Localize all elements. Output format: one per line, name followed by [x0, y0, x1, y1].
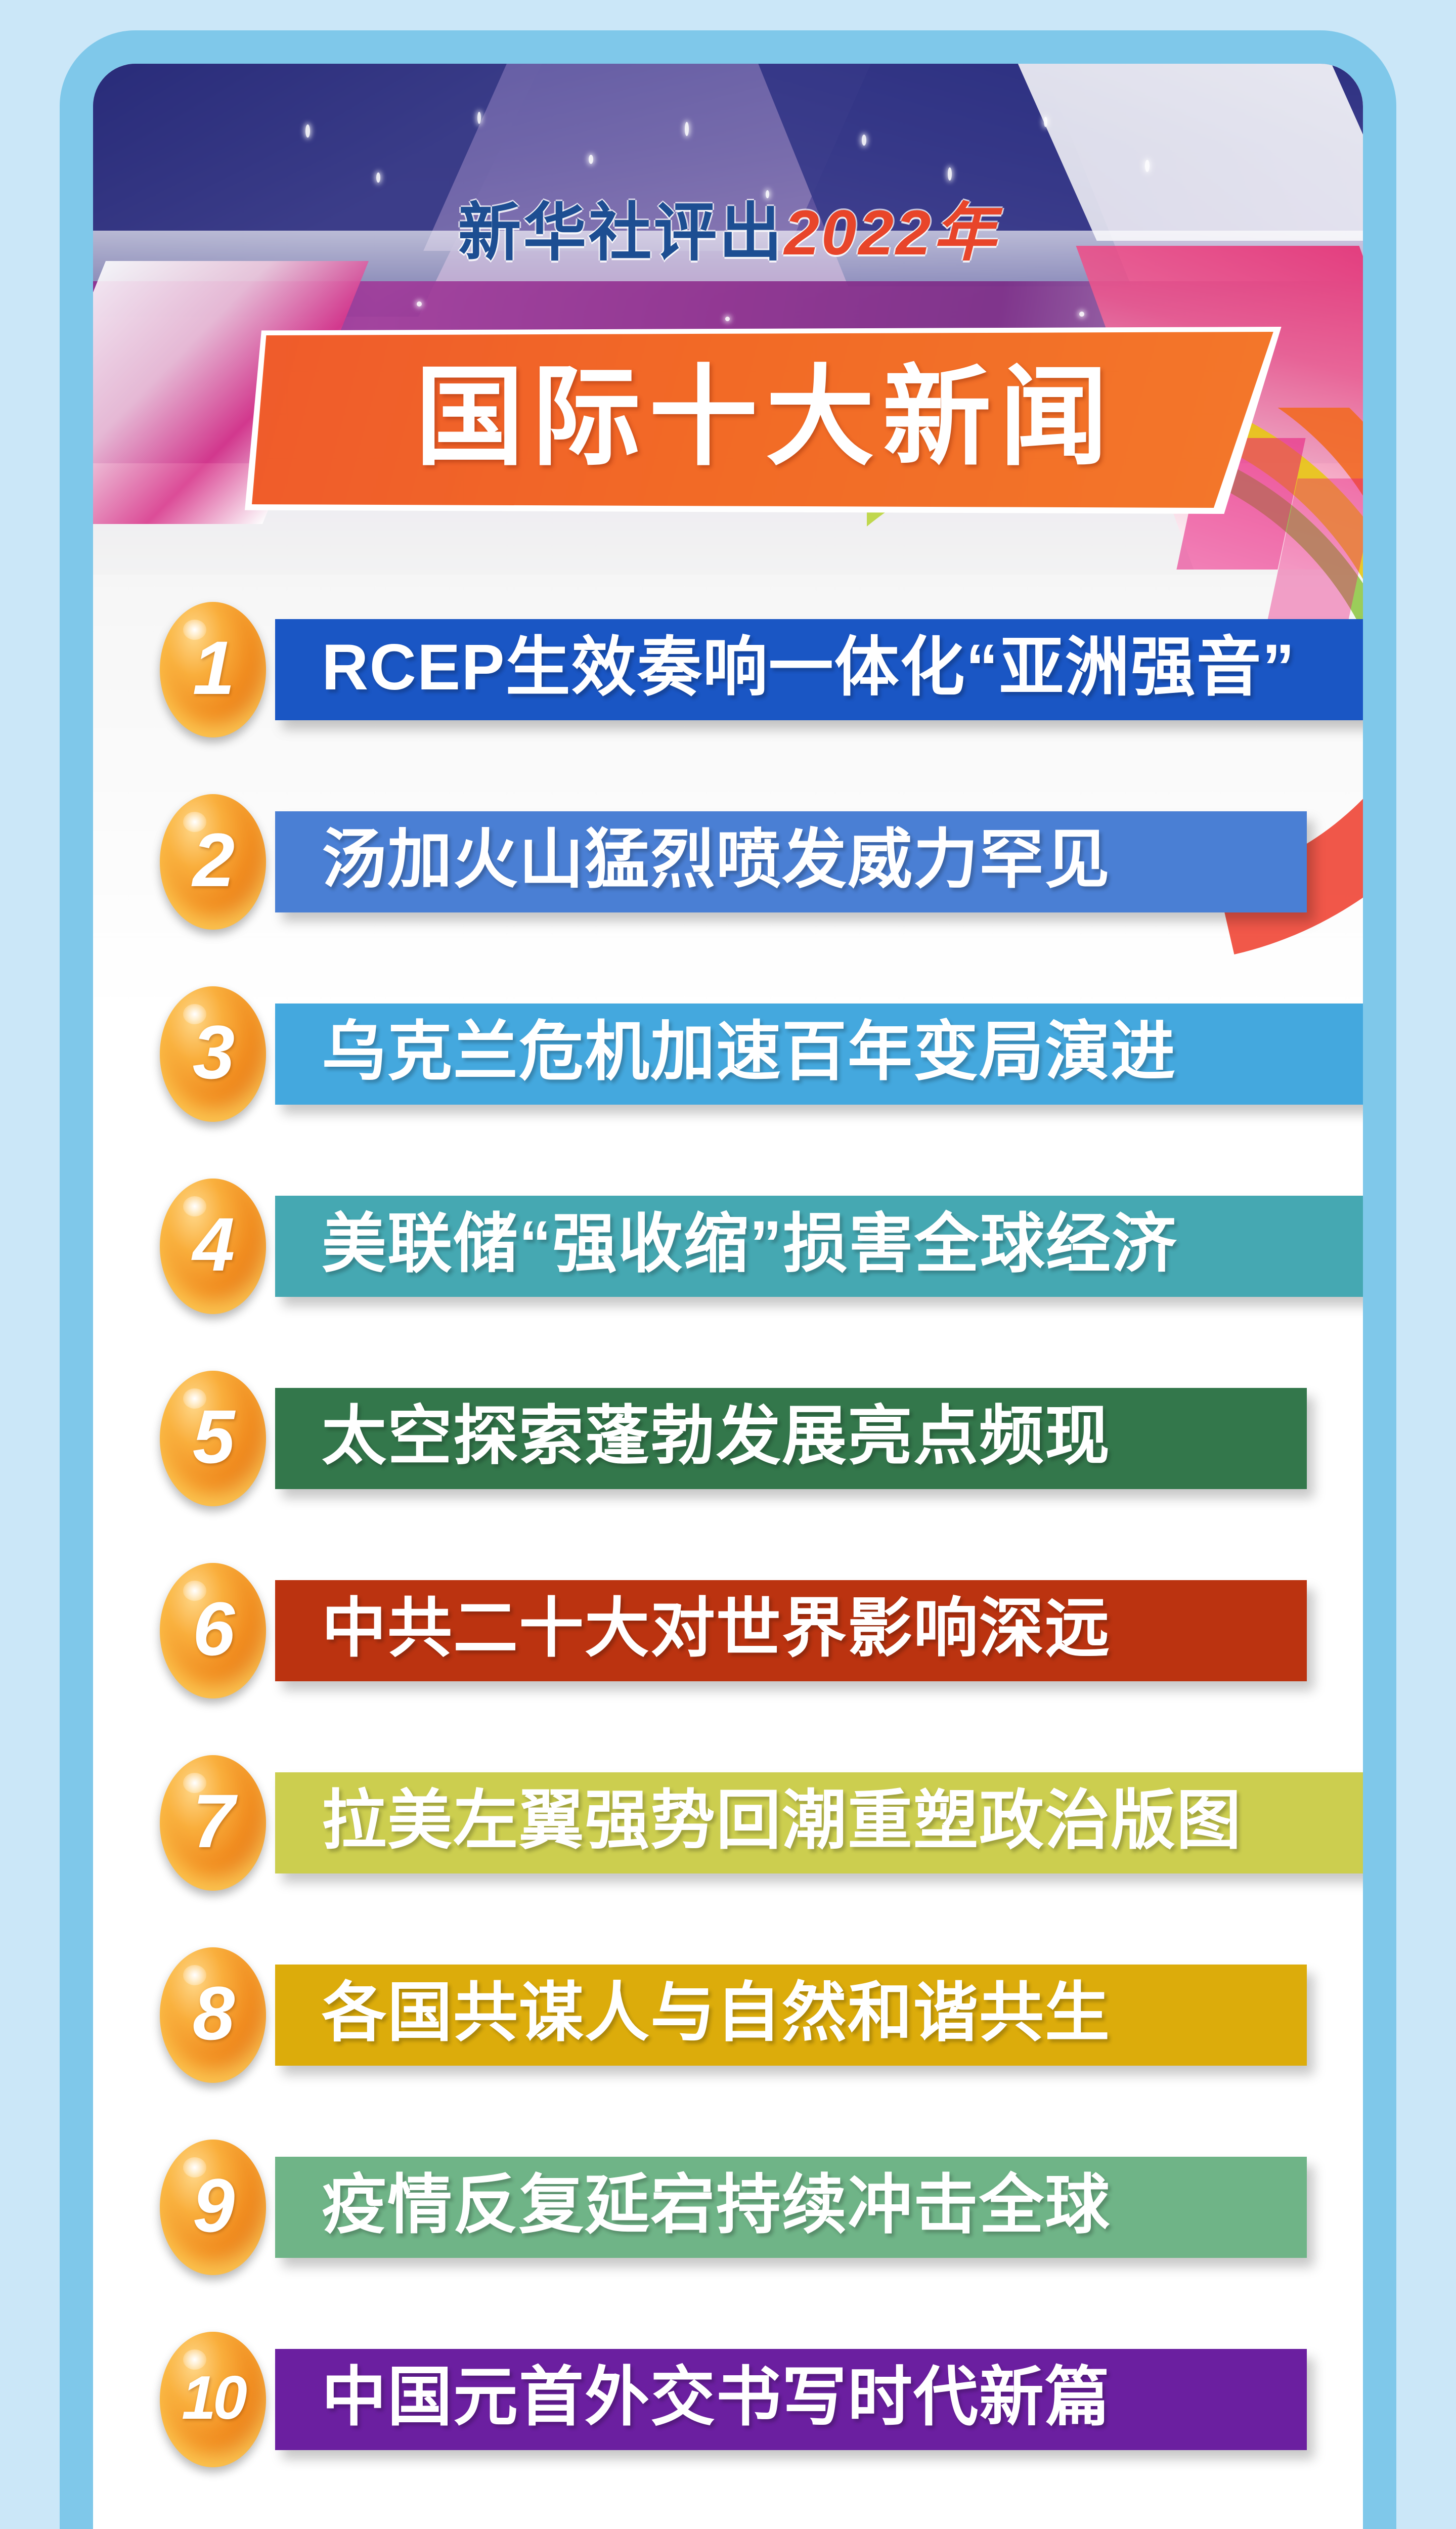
sparkle: [1079, 312, 1084, 317]
news-list: RCEP生效奏响一体化“亚洲强音”1汤加火山猛烈喷发威力罕见2乌克兰危机加速百年…: [93, 585, 1363, 2507]
news-item-number-badge[interactable]: 8: [160, 1947, 266, 2083]
sparkle: [685, 122, 689, 136]
news-item-bar[interactable]: 中共二十大对世界影响深远: [275, 1580, 1307, 1681]
news-item-bar[interactable]: 疫情反复延宕持续冲击全球: [275, 2157, 1307, 2258]
news-item-bar[interactable]: 中国元首外交书写时代新篇: [275, 2349, 1307, 2450]
news-item-number-badge[interactable]: 6: [160, 1563, 266, 1698]
sparkle: [417, 301, 422, 307]
news-item-number-badge[interactable]: 5: [160, 1371, 266, 1506]
news-item-number: 5: [193, 1399, 233, 1474]
poster-card: 新华社评出2022年 国际十大新闻 RCEP生效奏响一体化“亚洲强音”1汤加火山…: [93, 64, 1363, 2529]
news-item-bar[interactable]: 汤加火山猛烈喷发威力罕见: [275, 811, 1307, 912]
sparkle: [725, 317, 730, 321]
news-item-row[interactable]: 中共二十大对世界影响深远6: [93, 1546, 1363, 1738]
news-item-number-badge[interactable]: 4: [160, 1179, 266, 1314]
sparkle: [1145, 160, 1150, 172]
poster-frame: 新华社评出2022年 国际十大新闻 RCEP生效奏响一体化“亚洲强音”1汤加火山…: [60, 30, 1396, 2529]
news-item-number: 1: [193, 630, 233, 706]
news-item-number: 2: [193, 822, 233, 898]
kicker-prefix: 新华社评出: [458, 198, 784, 268]
news-item-row[interactable]: RCEP生效奏响一体化“亚洲强音”1: [93, 585, 1363, 777]
news-item-title: 各国共谋人与自然和谐共生: [275, 1981, 1111, 2045]
news-item-title: 中共二十大对世界影响深远: [275, 1596, 1111, 1661]
news-item-title: 汤加火山猛烈喷发威力罕见: [275, 827, 1111, 892]
news-item-row[interactable]: 中国元首外交书写时代新篇10: [93, 2315, 1363, 2507]
sparkle: [589, 155, 593, 164]
sparkle: [948, 167, 952, 181]
news-item-row[interactable]: 汤加火山猛烈喷发威力罕见2: [93, 777, 1363, 969]
news-item-row[interactable]: 美联储“强收缩”损害全球经济4: [93, 1161, 1363, 1354]
sparkle: [305, 124, 310, 138]
news-item-title: 拉美左翼强势回潮重塑政治版图: [275, 1789, 1242, 1853]
news-item-number-badge[interactable]: 3: [160, 986, 266, 1122]
banner-orange-fill: 国际十大新闻: [252, 332, 1279, 508]
page-title: 国际十大新闻: [415, 363, 1116, 471]
news-item-bar[interactable]: 美联储“强收缩”损害全球经济: [275, 1196, 1363, 1297]
news-item-bar[interactable]: 拉美左翼强势回潮重塑政治版图: [275, 1772, 1363, 1873]
news-item-row[interactable]: 各国共谋人与自然和谐共生8: [93, 1930, 1363, 2122]
header-kicker: 新华社评出2022年: [93, 181, 1363, 273]
news-item-number: 4: [193, 1206, 233, 1282]
news-item-number-badge[interactable]: 7: [160, 1755, 266, 1891]
news-item-number-badge[interactable]: 9: [160, 2140, 266, 2275]
news-item-title: 中国元首外交书写时代新篇: [275, 2365, 1111, 2430]
news-item-title: 美联储“强收缩”损害全球经济: [275, 1212, 1177, 1277]
news-item-row[interactable]: 拉美左翼强势回潮重塑政治版图7: [93, 1738, 1363, 1930]
sparkle: [1044, 117, 1047, 127]
news-item-title: 太空探索蓬勃发展亮点频现: [275, 1404, 1111, 1469]
news-item-row[interactable]: 疫情反复延宕持续冲击全球9: [93, 2122, 1363, 2315]
kicker-year-suffix: 年: [933, 198, 998, 268]
news-item-number-badge[interactable]: 1: [160, 602, 266, 737]
news-item-title: 疫情反复延宕持续冲击全球: [275, 2173, 1111, 2238]
news-item-number: 6: [193, 1591, 233, 1667]
news-item-bar[interactable]: 各国共谋人与自然和谐共生: [275, 1965, 1307, 2066]
news-item-number: 3: [193, 1014, 233, 1090]
news-item-title: RCEP生效奏响一体化“亚洲强音”: [275, 635, 1296, 700]
main-title-banner: 国际十大新闻: [245, 327, 1287, 514]
news-item-number: 8: [193, 1975, 233, 2051]
news-item-number-badge[interactable]: 10: [160, 2332, 266, 2467]
news-item-bar[interactable]: 太空探索蓬勃发展亮点频现: [275, 1388, 1307, 1489]
news-item-number: 10: [182, 2367, 244, 2428]
news-item-row[interactable]: 太空探索蓬勃发展亮点频现5: [93, 1354, 1363, 1546]
news-item-number-badge[interactable]: 2: [160, 794, 266, 930]
news-item-row[interactable]: 乌克兰危机加速百年变局演进3: [93, 969, 1363, 1161]
news-item-bar[interactable]: RCEP生效奏响一体化“亚洲强音”: [275, 619, 1363, 720]
news-item-title: 乌克兰危机加速百年变局演进: [275, 1020, 1176, 1084]
news-item-number: 9: [193, 2167, 233, 2243]
news-item-number: 7: [193, 1783, 233, 1859]
kicker-year: 2022: [784, 198, 933, 268]
news-item-bar[interactable]: 乌克兰危机加速百年变局演进: [275, 1004, 1363, 1105]
sparkle: [477, 112, 481, 124]
sparkle: [862, 135, 866, 146]
